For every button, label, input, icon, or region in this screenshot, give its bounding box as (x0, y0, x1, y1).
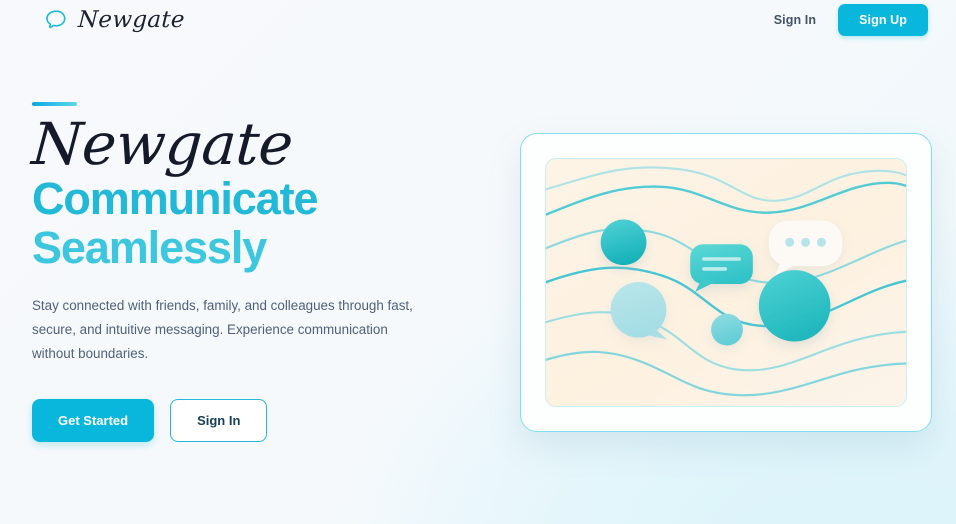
accent-bar (32, 102, 77, 106)
teal-circle-small (601, 220, 647, 266)
signin-button[interactable]: Sign In (170, 399, 267, 442)
cta-row: Get Started Sign In (32, 399, 470, 442)
teal-speech-bubble (690, 244, 753, 292)
illustration-card (520, 133, 932, 432)
messaging-illustration (546, 159, 906, 406)
light-cyan-speech-bubble (611, 282, 668, 340)
nav-signin-link[interactable]: Sign In (774, 13, 816, 27)
hero-content: Newgate Communicate Seamlessly Stay conn… (0, 40, 470, 442)
teal-circle-large (759, 270, 831, 341)
headline-line-1: Communicate (32, 173, 317, 224)
cyan-circle-small (711, 314, 743, 346)
hero-section: Newgate Communicate Seamlessly Stay conn… (0, 40, 956, 524)
illustration-panel (545, 158, 907, 407)
white-typing-bubble (769, 221, 843, 277)
headline-line-2: Seamlessly (32, 224, 470, 272)
get-started-button[interactable]: Get Started (32, 399, 154, 442)
nav-signup-button[interactable]: Sign Up (838, 4, 928, 36)
brand-logo[interactable]: Newgate (44, 7, 185, 33)
page-title: Communicate Seamlessly (32, 175, 470, 271)
page-header: Newgate Sign In Sign Up (0, 0, 956, 40)
hero-script-title: Newgate (30, 118, 472, 171)
header-nav: Sign In Sign Up (774, 4, 928, 36)
hero-description: Stay connected with friends, family, and… (32, 294, 432, 367)
brand-name: Newgate (77, 7, 185, 33)
speech-bubble-icon (44, 8, 68, 32)
